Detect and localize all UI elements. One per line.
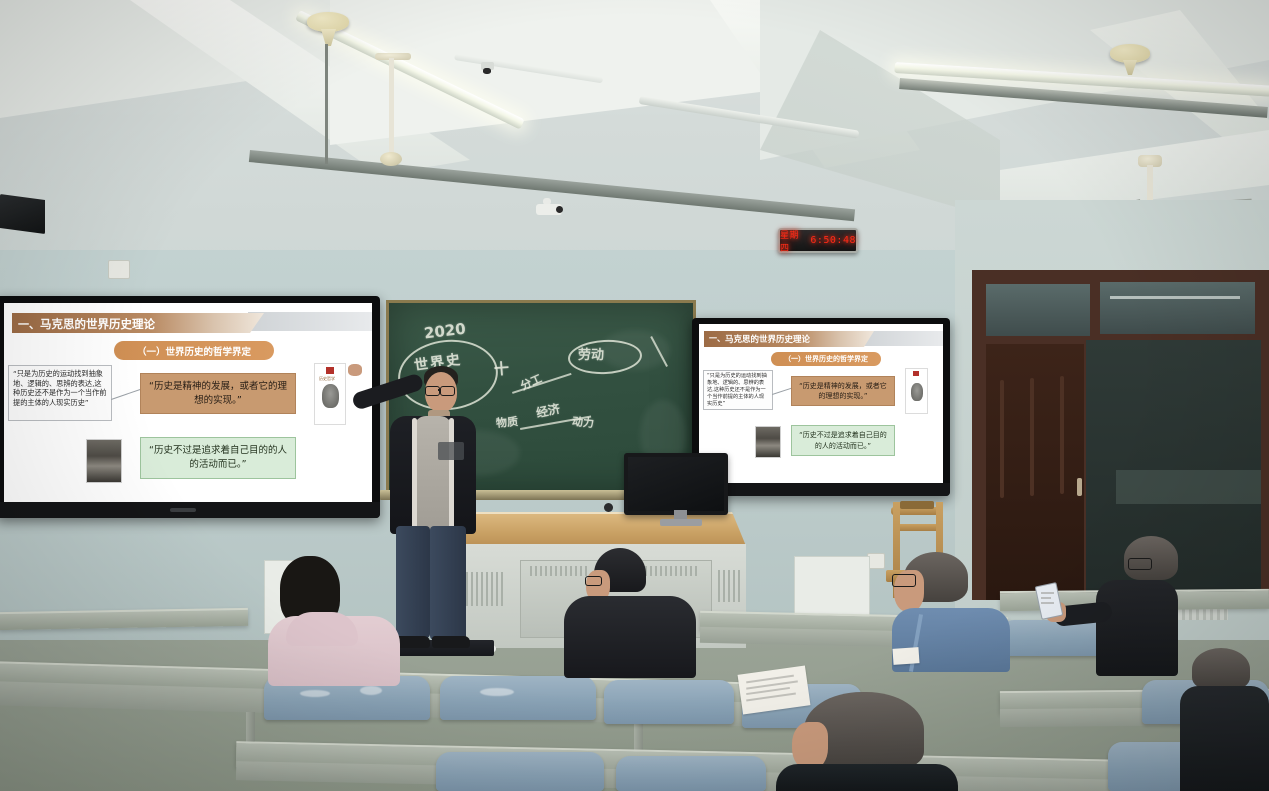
desk-paper-note[interactable]: [892, 647, 919, 665]
beanie-student-jacket: [564, 596, 696, 678]
phone-user-glasses: [1128, 558, 1152, 570]
hegel-portrait-face-right: [911, 383, 923, 401]
right-slide-header-title: 马克思的世界历史理论: [725, 333, 810, 345]
classroom-photo-scene: 星期四 6:50:48 一、 马克思的世界历史理论 （一）世界历史的哲学界定 “…: [0, 0, 1269, 791]
lecturer-hand: [348, 364, 362, 376]
chair-wear-b1: [480, 688, 514, 696]
led-time: 6:50:48: [810, 235, 856, 246]
chair-row2-a[interactable]: [436, 752, 604, 791]
lecturer-glasses-bridge: [438, 389, 441, 391]
camera-lens-left: [483, 68, 491, 74]
door-slat-2: [1030, 378, 1034, 496]
observer-phone-user: [1028, 536, 1178, 676]
left-slide-marx-portrait: [86, 439, 122, 483]
back-row-hair: [1192, 648, 1250, 690]
pendant-lamp-stem-left: [325, 44, 328, 164]
chair-row1-b[interactable]: [440, 676, 596, 720]
door-transom-left: [986, 284, 1090, 336]
door-slat-1: [1000, 380, 1004, 498]
left-slide-connector-line: [111, 388, 143, 400]
phone-user-jacket: [1096, 580, 1178, 676]
hegel-portrait-face: [322, 384, 339, 408]
student-pink-hoodie: [262, 556, 432, 686]
camera-lens-center: [556, 206, 563, 213]
reader-shoulders: [776, 764, 958, 791]
podium-monitor-base: [660, 519, 702, 526]
podium-monitor-screen[interactable]: [628, 457, 724, 511]
lecturer-glasses-left: [425, 386, 440, 396]
chair-wear-a2: [360, 686, 382, 695]
led-weekday: 星期四: [780, 228, 804, 254]
corridor-wall-strip: [1116, 470, 1261, 504]
hegel-book-mark: [326, 367, 334, 374]
hegel-book-mark-right: [913, 371, 919, 376]
left-slide-callout: “只是为历史的运动找到抽象地、逻辑的、思辨的表达,这种历史还不是作为一个当作前提…: [8, 365, 112, 421]
phone-screen-line-2: [1041, 597, 1051, 599]
wall-speaker: [0, 194, 45, 234]
transom-light-reflection: [1110, 296, 1240, 299]
pink-hoodie-hood: [286, 612, 358, 646]
chair-wear-a1: [300, 690, 330, 697]
observer-reading-paper: [768, 678, 958, 791]
left-display-screen[interactable]: 一、 马克思的世界历史理论 （一）世界历史的哲学界定 “只是为历史的运动找到抽象…: [4, 303, 372, 502]
lecturer-hoodie-drawstring-left: [412, 418, 417, 530]
back-row-torso: [1180, 686, 1269, 791]
left-slide-section-label: （一）世界历史的哲学界定: [137, 344, 251, 358]
observer-back-row: [1180, 648, 1269, 791]
lecturer-glasses-right: [440, 386, 455, 396]
lecturer-leg-right: [430, 526, 466, 640]
chalk-note-driving-force: 动力: [571, 413, 595, 431]
left-slide-hegel-book: 历史哲学: [314, 363, 346, 425]
denim-observer-glasses: [892, 574, 916, 587]
lecturer-hoodie: [414, 416, 452, 530]
left-slide-section-pill: （一）世界历史的哲学界定: [114, 341, 274, 360]
right-slide-section-label: （一）世界历史的哲学界定: [784, 354, 868, 364]
lecturer-jacket-print: [438, 442, 464, 460]
lectern-vent-far-right: [718, 570, 740, 602]
left-slide-header-number: 一、: [18, 316, 40, 332]
right-slide-orange-quote-box: “历史是精神的发展，或者它的理想的实现。”: [791, 376, 895, 406]
door-slat-3: [1060, 376, 1064, 494]
wooden-chair-label: [900, 501, 934, 509]
lecturer-raised-arm: [351, 372, 425, 410]
chalk-note-labor: 劳动: [578, 344, 604, 363]
right-slide-hegel-book: [905, 368, 928, 414]
right-display-chin: [692, 483, 950, 496]
beanie-student-glasses: [585, 576, 602, 586]
left-slide-green-quote-box: “历史不过是追求着自己目的的人的活动而已。”: [140, 437, 296, 479]
chair-row1-c[interactable]: [604, 680, 734, 724]
chalk-note-material: 物质: [495, 413, 518, 431]
lecturer-shoe-right: [432, 636, 470, 648]
student-black-beanie: [560, 548, 700, 678]
left-slide-accent: [248, 312, 372, 331]
fan-hub-center: [380, 152, 402, 166]
right-display-screen[interactable]: 一、 马克思的世界历史理论 （一）世界历史的哲学界定 “只是为历史的运动找到抽象…: [699, 324, 943, 483]
reader-face: [792, 722, 828, 770]
hegel-book-label: 历史哲学: [319, 376, 335, 382]
left-slide-orange-quote-box: “历史是精神的发展，或者它的理想的实现。”: [140, 373, 296, 414]
right-slide: 一、 马克思的世界历史理论 （一）世界历史的哲学界定 “只是为历史的运动找到抽象…: [699, 324, 943, 483]
phone-screen-line-3: [1041, 602, 1054, 604]
fan-rod-center: [389, 58, 394, 158]
right-slide-section-pill: （一）世界历史的哲学界定: [771, 352, 881, 366]
phone-screen-line-1: [1041, 592, 1054, 594]
left-display-logo: [170, 508, 196, 512]
right-slide-callout: “只是为历史的运动找到抽象地、逻辑的、思辨的表达,这种历史还不是作为一个当作前提…: [703, 370, 773, 410]
smartphone[interactable]: [1035, 582, 1064, 620]
right-slide-marx-portrait: [755, 426, 781, 458]
power-outlet-left: [108, 260, 130, 279]
chair-row2-b[interactable]: [616, 756, 766, 791]
lecturer-hoodie-drawstring-right: [449, 418, 454, 530]
lectern-mic-knob[interactable]: [604, 503, 613, 512]
right-slide-green-quote-box: “历史不过是追求着自己目的的人的活动而已。”: [791, 425, 895, 456]
chalk-note-plus: 十: [493, 358, 509, 380]
left-slide-header-title: 马克思的世界历史理论: [40, 316, 155, 332]
led-clock-display: 星期四 6:50:48: [778, 228, 858, 253]
left-slide: 一、 马克思的世界历史理论 （一）世界历史的哲学界定 “只是为历史的运动找到抽象…: [4, 303, 372, 502]
lectern-top-wood: [452, 512, 746, 548]
door-transom-right: [1100, 282, 1255, 334]
door-handle[interactable]: [1077, 478, 1082, 496]
right-slide-header-number: 一、: [709, 333, 725, 344]
